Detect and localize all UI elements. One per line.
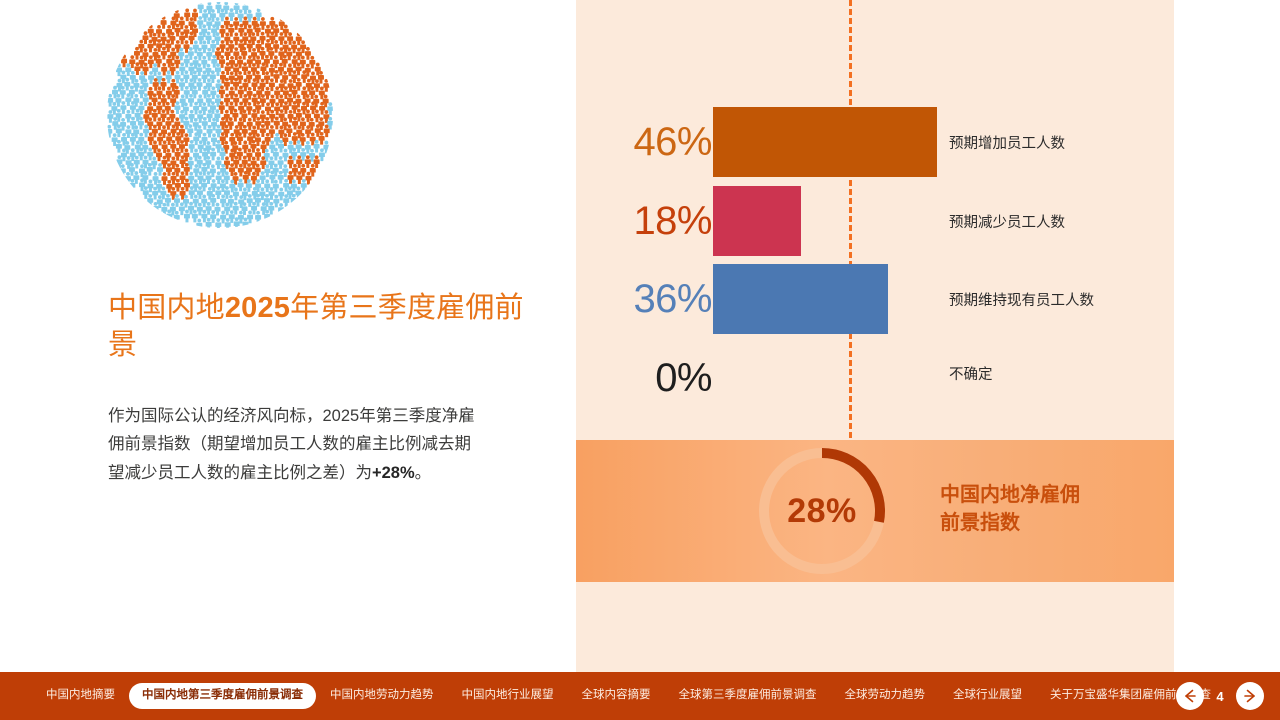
next-page-button[interactable] — [1236, 682, 1264, 710]
arrow-right-icon — [1241, 687, 1259, 705]
chart-row: 36% 预期维持现有员工人数 — [576, 264, 1174, 334]
globe-of-people-icon — [92, 0, 348, 230]
nav-pager: 4 — [1176, 682, 1264, 710]
bottom-navigation-bar: 中国内地摘要中国内地第三季度雇佣前景调查中国内地劳动力趋势中国内地行业展望全球内… — [0, 672, 1280, 720]
nav-item[interactable]: 中国内地行业展望 — [448, 684, 568, 708]
body-paragraph: 作为国际公认的经济风向标，2025年第三季度净雇佣前景指数（期望增加员工人数的雇… — [108, 402, 483, 487]
chart-panel: 46% 预期增加员工人数 18% 预期减少员工人数 36% 预期维持现有员工人数… — [576, 0, 1174, 672]
bar-value-label: 18% — [633, 201, 712, 241]
horizontal-bar-chart: 46% 预期增加员工人数 18% 预期减少员工人数 36% 预期维持现有员工人数… — [576, 0, 1174, 440]
net-outlook-value: 28% — [752, 441, 892, 581]
nav-item-active[interactable]: 中国内地第三季度雇佣前景调查 — [129, 683, 316, 709]
prev-page-button[interactable] — [1176, 682, 1204, 710]
left-content-column: 中国内地2025年第三季度雇佣前景 作为国际公认的经济风向标，2025年第三季度… — [0, 0, 576, 672]
caption-line-1: 中国内地净雇佣 — [940, 481, 1150, 509]
caption-line-2: 前景指数 — [940, 509, 1150, 537]
bar-value-label: 36% — [633, 279, 712, 319]
nav-item[interactable]: 全球劳动力趋势 — [831, 684, 940, 708]
bar-category-label: 预期减少员工人数 — [949, 216, 1065, 231]
nav-item[interactable]: 全球行业展望 — [939, 684, 1036, 708]
arrow-left-icon — [1181, 687, 1199, 705]
net-outlook-band: 28% 中国内地净雇佣 前景指数 — [576, 440, 1174, 582]
bar-rect — [713, 107, 937, 177]
nav-item[interactable]: 全球第三季度雇佣前景调查 — [665, 684, 831, 708]
nav-item[interactable]: 中国内地劳动力趋势 — [316, 684, 448, 708]
nav-item[interactable]: 全球内容摘要 — [568, 684, 665, 708]
chart-row: 18% 预期减少员工人数 — [576, 186, 1174, 256]
page-number: 4 — [1214, 689, 1226, 704]
bar-category-label: 预期维持现有员工人数 — [949, 294, 1094, 309]
bar-rect — [713, 264, 888, 334]
bar-category-label: 不确定 — [949, 368, 993, 383]
bar-value-label: 46% — [633, 122, 712, 162]
chart-row: 46% 预期增加员工人数 — [576, 107, 1174, 177]
headline-part1: 中国内地 — [108, 292, 225, 324]
nav-items-container: 中国内地摘要中国内地第三季度雇佣前景调查中国内地劳动力趋势中国内地行业展望全球内… — [32, 683, 1225, 709]
body-text-2: 。 — [415, 464, 432, 482]
bar-value-label: 0% — [655, 358, 712, 398]
chart-row: 0% 不确定 — [576, 343, 1174, 413]
globe-svg — [92, 0, 348, 230]
body-highlight: +28% — [372, 464, 415, 482]
nav-item[interactable]: 中国内地摘要 — [32, 684, 129, 708]
bar-category-label: 预期增加员工人数 — [949, 137, 1065, 152]
bar-rect — [713, 186, 801, 256]
net-outlook-caption: 中国内地净雇佣 前景指数 — [940, 481, 1150, 538]
page-title: 中国内地2025年第三季度雇佣前景 — [108, 290, 538, 364]
net-outlook-donut: 28% — [752, 441, 892, 581]
headline-year: 2025 — [225, 292, 290, 324]
